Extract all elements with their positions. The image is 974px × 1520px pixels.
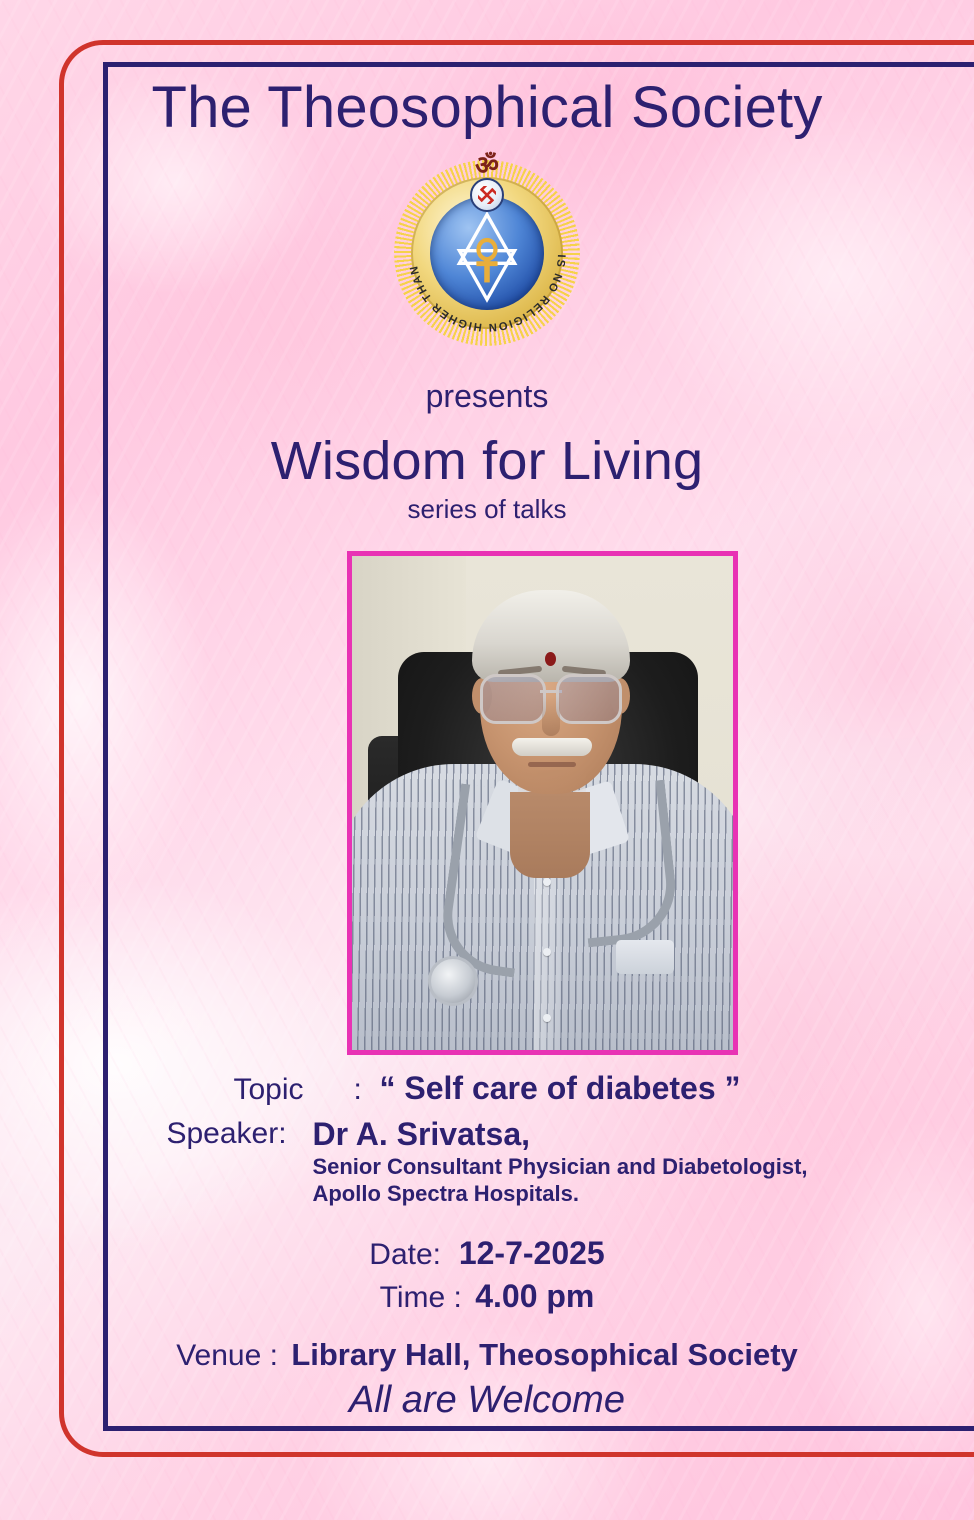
speaker-name: Dr A. Srivatsa, [312, 1117, 807, 1153]
photo-forehead-tilak [545, 652, 556, 666]
topic-row: Topic : “ Self care of diabetes ” [0, 1070, 974, 1107]
event-details: Topic : “ Self care of diabetes ” Speake… [0, 1070, 974, 1422]
presents-label: presents [0, 378, 974, 415]
photo-moustache [512, 738, 592, 756]
time-label: Time : [380, 1281, 462, 1314]
date-label: Date: [369, 1238, 441, 1271]
topic-label: Topic [233, 1073, 353, 1107]
date-value: 12-7-2025 [459, 1235, 605, 1271]
photo-lens-right [556, 674, 622, 724]
photo-stethoscope-chestpiece [428, 956, 478, 1006]
date-row: Date: 12-7-2025 [0, 1235, 974, 1272]
venue-value: Library Hall, Theosophical Society [291, 1337, 797, 1372]
star-of-david-ankh-icon [434, 204, 540, 310]
topic-colon: : [353, 1073, 379, 1107]
organization-title: The Theosophical Society [0, 78, 974, 139]
speaker-title: Senior Consultant Physician and Diabetol… [312, 1153, 807, 1180]
series-title: Wisdom for Living [0, 430, 974, 492]
speaker-row: Speaker: Dr A. Srivatsa, Senior Consulta… [0, 1117, 974, 1207]
photo-mouth [528, 762, 576, 767]
photo-hair [472, 590, 630, 682]
photo-shirt-button [543, 1014, 551, 1022]
photo-shirt-button [543, 948, 551, 956]
series-subtitle: series of talks [0, 494, 974, 525]
photo-chin [518, 770, 586, 796]
swastika-badge-icon [470, 178, 504, 212]
event-poster: The Theosophical Society THERE IS NO REL… [0, 0, 974, 1520]
theosophical-society-emblem: THERE IS NO RELIGION HIGHER THAN TRUTH ॐ [394, 160, 580, 346]
speaker-label: Speaker: [166, 1117, 312, 1207]
om-symbol-icon: ॐ [394, 152, 580, 178]
photo-shirt-pocket-item [616, 940, 674, 974]
venue-row: Venue : Library Hall, Theosophical Socie… [0, 1337, 974, 1373]
speaker-photo-frame [347, 551, 738, 1055]
venue-label: Venue : [176, 1339, 278, 1372]
speaker-photo [352, 556, 733, 1050]
topic-value: “ Self care of diabetes ” [379, 1070, 740, 1107]
speaker-info: Dr A. Srivatsa, Senior Consultant Physic… [312, 1117, 807, 1207]
photo-shirt-button [543, 878, 551, 886]
photo-lens-left [480, 674, 546, 724]
time-row: Time : 4.00 pm [0, 1278, 974, 1315]
swastika-glyph-icon [478, 186, 496, 204]
speaker-organization: Apollo Spectra Hospitals. [312, 1180, 807, 1207]
photo-nose [542, 696, 560, 736]
photo-neck [510, 792, 590, 878]
time-value: 4.00 pm [475, 1278, 594, 1314]
welcome-message: All are Welcome [0, 1379, 974, 1422]
